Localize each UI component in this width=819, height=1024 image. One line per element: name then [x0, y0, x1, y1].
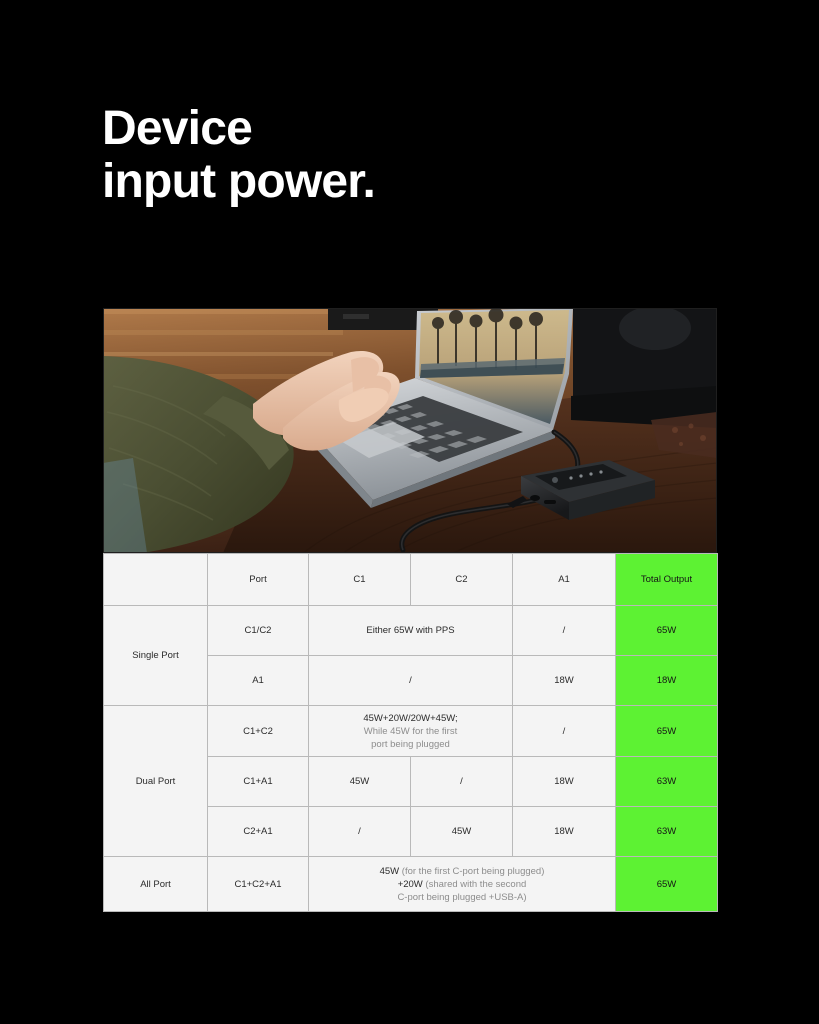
header-c2: C2	[411, 554, 513, 606]
cell-c2-dual-2: /	[411, 757, 513, 807]
cell-a1-single-2: 18W	[513, 656, 616, 706]
page-title-line-1: Device	[102, 102, 375, 155]
device-input-power-table: Port C1 C2 A1 Total Output Single Port C…	[103, 553, 718, 912]
product-lifestyle-photo	[103, 308, 717, 553]
cell-port-single-1: C1/C2	[208, 606, 309, 656]
table-row-all-port: All Port C1+C2+A1 45W (for the first C-p…	[104, 857, 718, 912]
table-header-row: Port C1 C2 A1 Total Output	[104, 554, 718, 606]
cell-c1c2-dual-1: 45W+20W/20W+45W; While 45W for the first…	[309, 706, 513, 757]
cell-c1c2-dual-1-line-2: While 45W for the first	[364, 726, 457, 737]
cell-total-dual-1: 65W	[616, 706, 718, 757]
cell-all-1-line-2-strong: +20W	[398, 879, 423, 890]
table-row-dual-port-c1c2: Dual Port C1+C2 45W+20W/20W+45W; While 4…	[104, 706, 718, 757]
cell-all-1-line-3: C-port being plugged +USB-A)	[397, 892, 526, 903]
page-title-line-2: input power.	[102, 155, 375, 208]
header-port: Port	[208, 554, 309, 606]
photo-illustration	[103, 308, 717, 553]
header-c1: C1	[309, 554, 411, 606]
cell-a1-dual-3: 18W	[513, 807, 616, 857]
cell-total-single-1: 65W	[616, 606, 718, 656]
cell-port-dual-2: C1+A1	[208, 757, 309, 807]
cell-all-1-line-2-rest: (shared with the second	[423, 879, 527, 890]
cell-a1-dual-1: /	[513, 706, 616, 757]
page-title: Device input power.	[102, 102, 375, 208]
cell-c1-dual-3: /	[309, 807, 411, 857]
cell-c1c2-dual-1-line-3: port being plugged	[371, 739, 450, 750]
cell-c1c2-dual-1-line-1: 45W+20W/20W+45W;	[363, 713, 457, 724]
header-group-blank	[104, 554, 208, 606]
cell-c1c2-single-1: Either 65W with PPS	[309, 606, 513, 656]
cell-total-dual-3: 63W	[616, 807, 718, 857]
cell-c2-dual-3: 45W	[411, 807, 513, 857]
cell-all-1-line-1-rest: (for the first C-port being plugged)	[399, 866, 544, 877]
table-row-single-port-c1c2: Single Port C1/C2 Either 65W with PPS / …	[104, 606, 718, 656]
page-root: Device input power.	[0, 0, 819, 1024]
cell-span-all-1: 45W (for the first C-port being plugged)…	[309, 857, 616, 912]
group-label-single-port: Single Port	[104, 606, 208, 706]
cell-a1-dual-2: 18W	[513, 757, 616, 807]
cell-total-all-1: 65W	[616, 857, 718, 912]
cell-port-single-2: A1	[208, 656, 309, 706]
cell-total-single-2: 18W	[616, 656, 718, 706]
group-label-all-port: All Port	[104, 857, 208, 912]
header-a1: A1	[513, 554, 616, 606]
cell-c1c2-single-2: /	[309, 656, 513, 706]
cell-port-dual-3: C2+A1	[208, 807, 309, 857]
cell-total-dual-2: 63W	[616, 757, 718, 807]
cell-port-all-1: C1+C2+A1	[208, 857, 309, 912]
cell-c1-dual-2: 45W	[309, 757, 411, 807]
header-total-output: Total Output	[616, 554, 718, 606]
cell-all-1-line-1-strong: 45W	[380, 866, 400, 877]
group-label-dual-port: Dual Port	[104, 706, 208, 857]
cell-port-dual-1: C1+C2	[208, 706, 309, 757]
cell-a1-single-1: /	[513, 606, 616, 656]
